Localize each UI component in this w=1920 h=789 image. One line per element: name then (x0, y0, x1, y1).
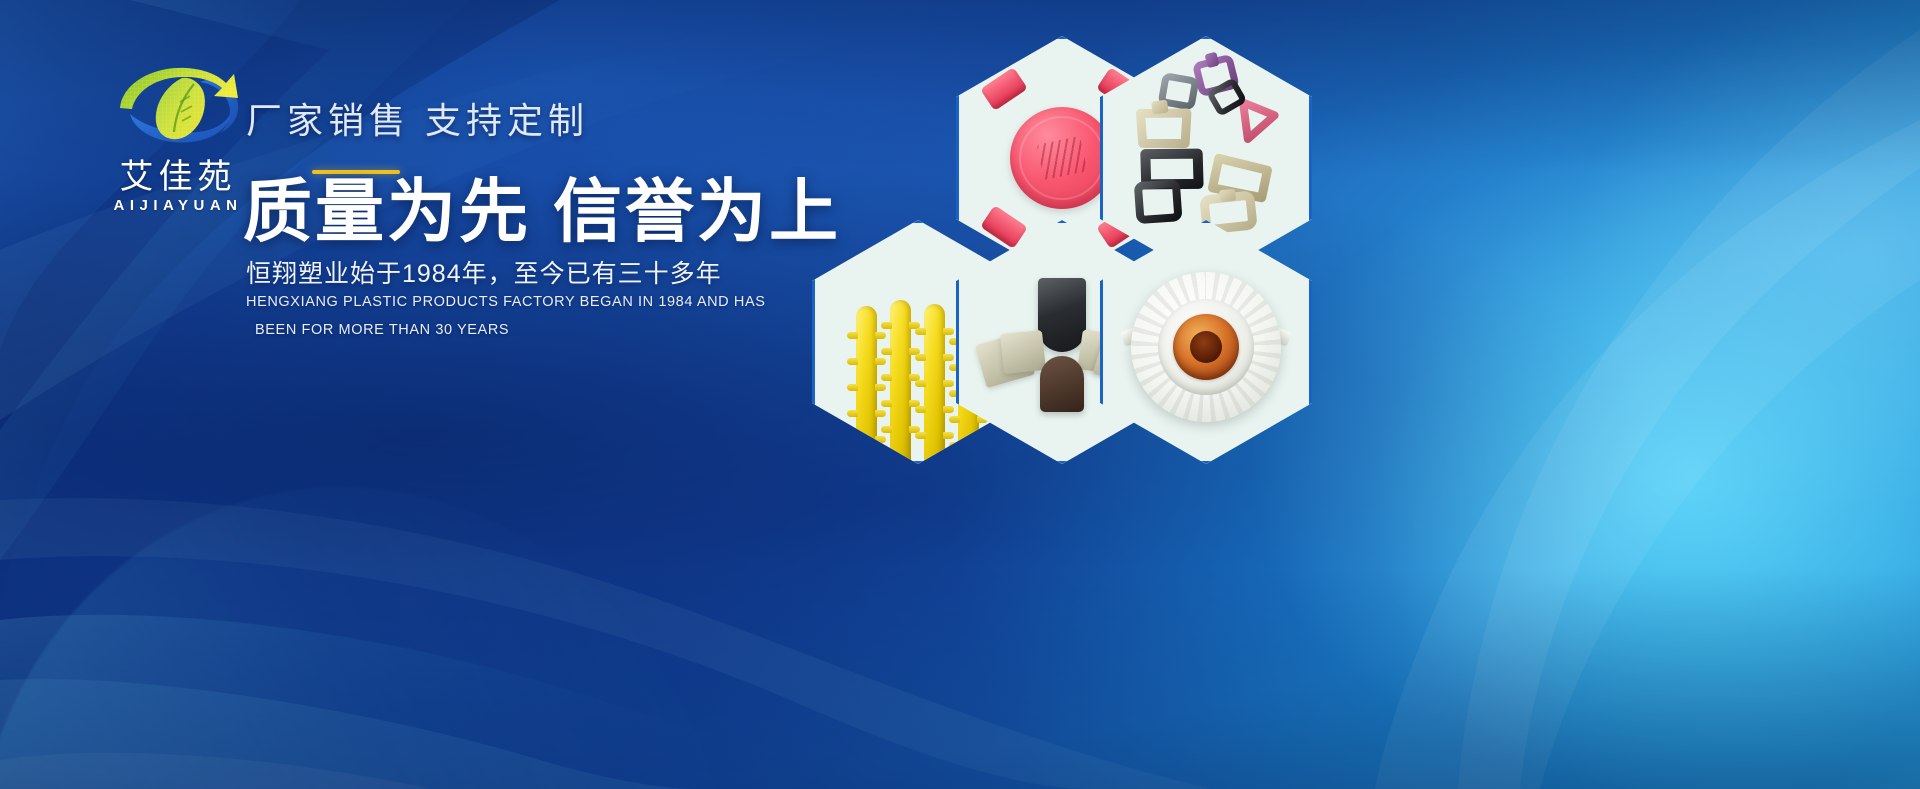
subtitle-en-line-2: BEEN FOR MORE THAN 30 YEARS (246, 316, 806, 344)
subtitle-en: HENGXIANG PLASTIC PRODUCTS FACTORY BEGAN… (246, 288, 806, 345)
hero-banner: 艾佳苑 AIJIAYUAN 厂家销售 支持定制 质量为先信誉为上 恒翔塑业始于1… (0, 0, 1920, 789)
product-hex-cluster (800, 34, 1320, 394)
headline-part-1: 质量为先 (243, 173, 531, 250)
product-hex-lamp-holder[interactable] (1100, 220, 1312, 464)
subtitle-en-line-1: HENGXIANG PLASTIC PRODUCTS FACTORY BEGAN… (246, 294, 765, 310)
headline: 质量为先信誉为上 (243, 174, 841, 250)
lamp-holder-photo (1100, 220, 1312, 464)
eyebrow-text: 厂家销售 支持定制 (246, 92, 589, 144)
subtitle-cn: 恒翔塑业始于1984年，至今已有三十多年 (246, 254, 722, 290)
headline-part-2: 信誉为上 (553, 173, 841, 250)
